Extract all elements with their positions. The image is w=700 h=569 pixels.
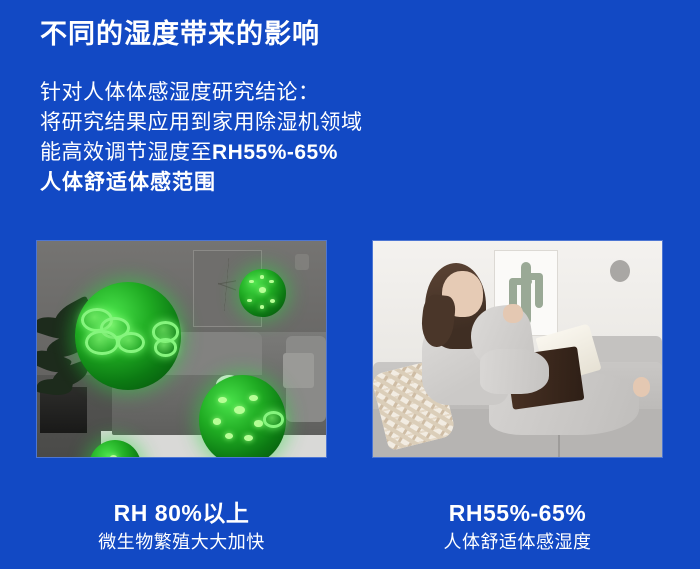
intro-line-2: 将研究结果应用到家用除湿机领域 — [40, 108, 363, 138]
microbe-cell — [154, 338, 178, 356]
microbe-nucleus — [234, 406, 245, 414]
wall-speaker-icon — [295, 254, 309, 270]
microbe-spike — [249, 280, 254, 284]
microbe-cell — [117, 332, 145, 354]
microbe-cell — [263, 411, 284, 427]
page-title: 不同的湿度带来的影响 — [40, 18, 320, 52]
microbe-spike — [269, 280, 274, 284]
person-hand — [503, 304, 523, 323]
panel-captions: RH 80%以上 微生物繁殖大大加快 RH55%-65% 人体舒适体感湿度 — [0, 498, 700, 568]
person-lower-arm — [480, 349, 549, 394]
microbe-spike — [254, 420, 263, 426]
intro-line-3-normal: 能高效调节湿度至 — [40, 141, 212, 164]
microbe-spike — [247, 299, 252, 303]
microbe-sphere-large — [75, 282, 182, 390]
caption-title: RH55%-65% — [372, 498, 663, 528]
microbe-cell — [85, 330, 119, 356]
caption-title: RH 80%以上 — [36, 498, 327, 528]
comparison-panels — [0, 240, 700, 460]
photo-comfort-humidity — [372, 240, 663, 458]
microbe-spike — [225, 433, 234, 439]
dark-living-room-scene — [37, 241, 326, 457]
intro-paragraph: 针对人体体感湿度研究结论： 将研究结果应用到家用除湿机领域 能高效调节湿度至RH… — [40, 78, 363, 198]
microbe-nucleus — [110, 455, 117, 458]
bright-living-room-scene — [373, 241, 662, 457]
microbe-sphere-small — [239, 269, 285, 317]
caption-comfort-humidity: RH55%-65% 人体舒适体感湿度 — [372, 498, 663, 556]
intro-line-1: 针对人体体感湿度研究结论： — [40, 78, 363, 108]
microbe-spike — [213, 418, 222, 424]
photo-high-humidity — [36, 240, 327, 458]
intro-line-4: 人体舒适体感范围 — [40, 168, 363, 198]
microbe-spike — [218, 397, 227, 403]
microbe-nucleus — [259, 287, 266, 293]
sofa-cushion — [283, 353, 315, 388]
microbe-spike — [249, 395, 258, 401]
cactus-icon — [522, 273, 543, 281]
caption-subtitle: 人体舒适体感湿度 — [372, 528, 663, 556]
intro-line-3-highlight: RH55%-65% — [212, 141, 338, 164]
person-foot — [633, 377, 650, 396]
microbe-sphere-medium — [199, 375, 286, 458]
microbe-spike — [260, 305, 265, 309]
caption-subtitle: 微生物繁殖大大加快 — [36, 528, 327, 556]
microbe-spike — [260, 275, 265, 279]
intro-line-3: 能高效调节湿度至RH55%-65% — [40, 138, 363, 168]
microbe-spike — [270, 299, 275, 303]
microbe-spike — [244, 435, 253, 441]
caption-high-humidity: RH 80%以上 微生物繁殖大大加快 — [36, 498, 327, 556]
